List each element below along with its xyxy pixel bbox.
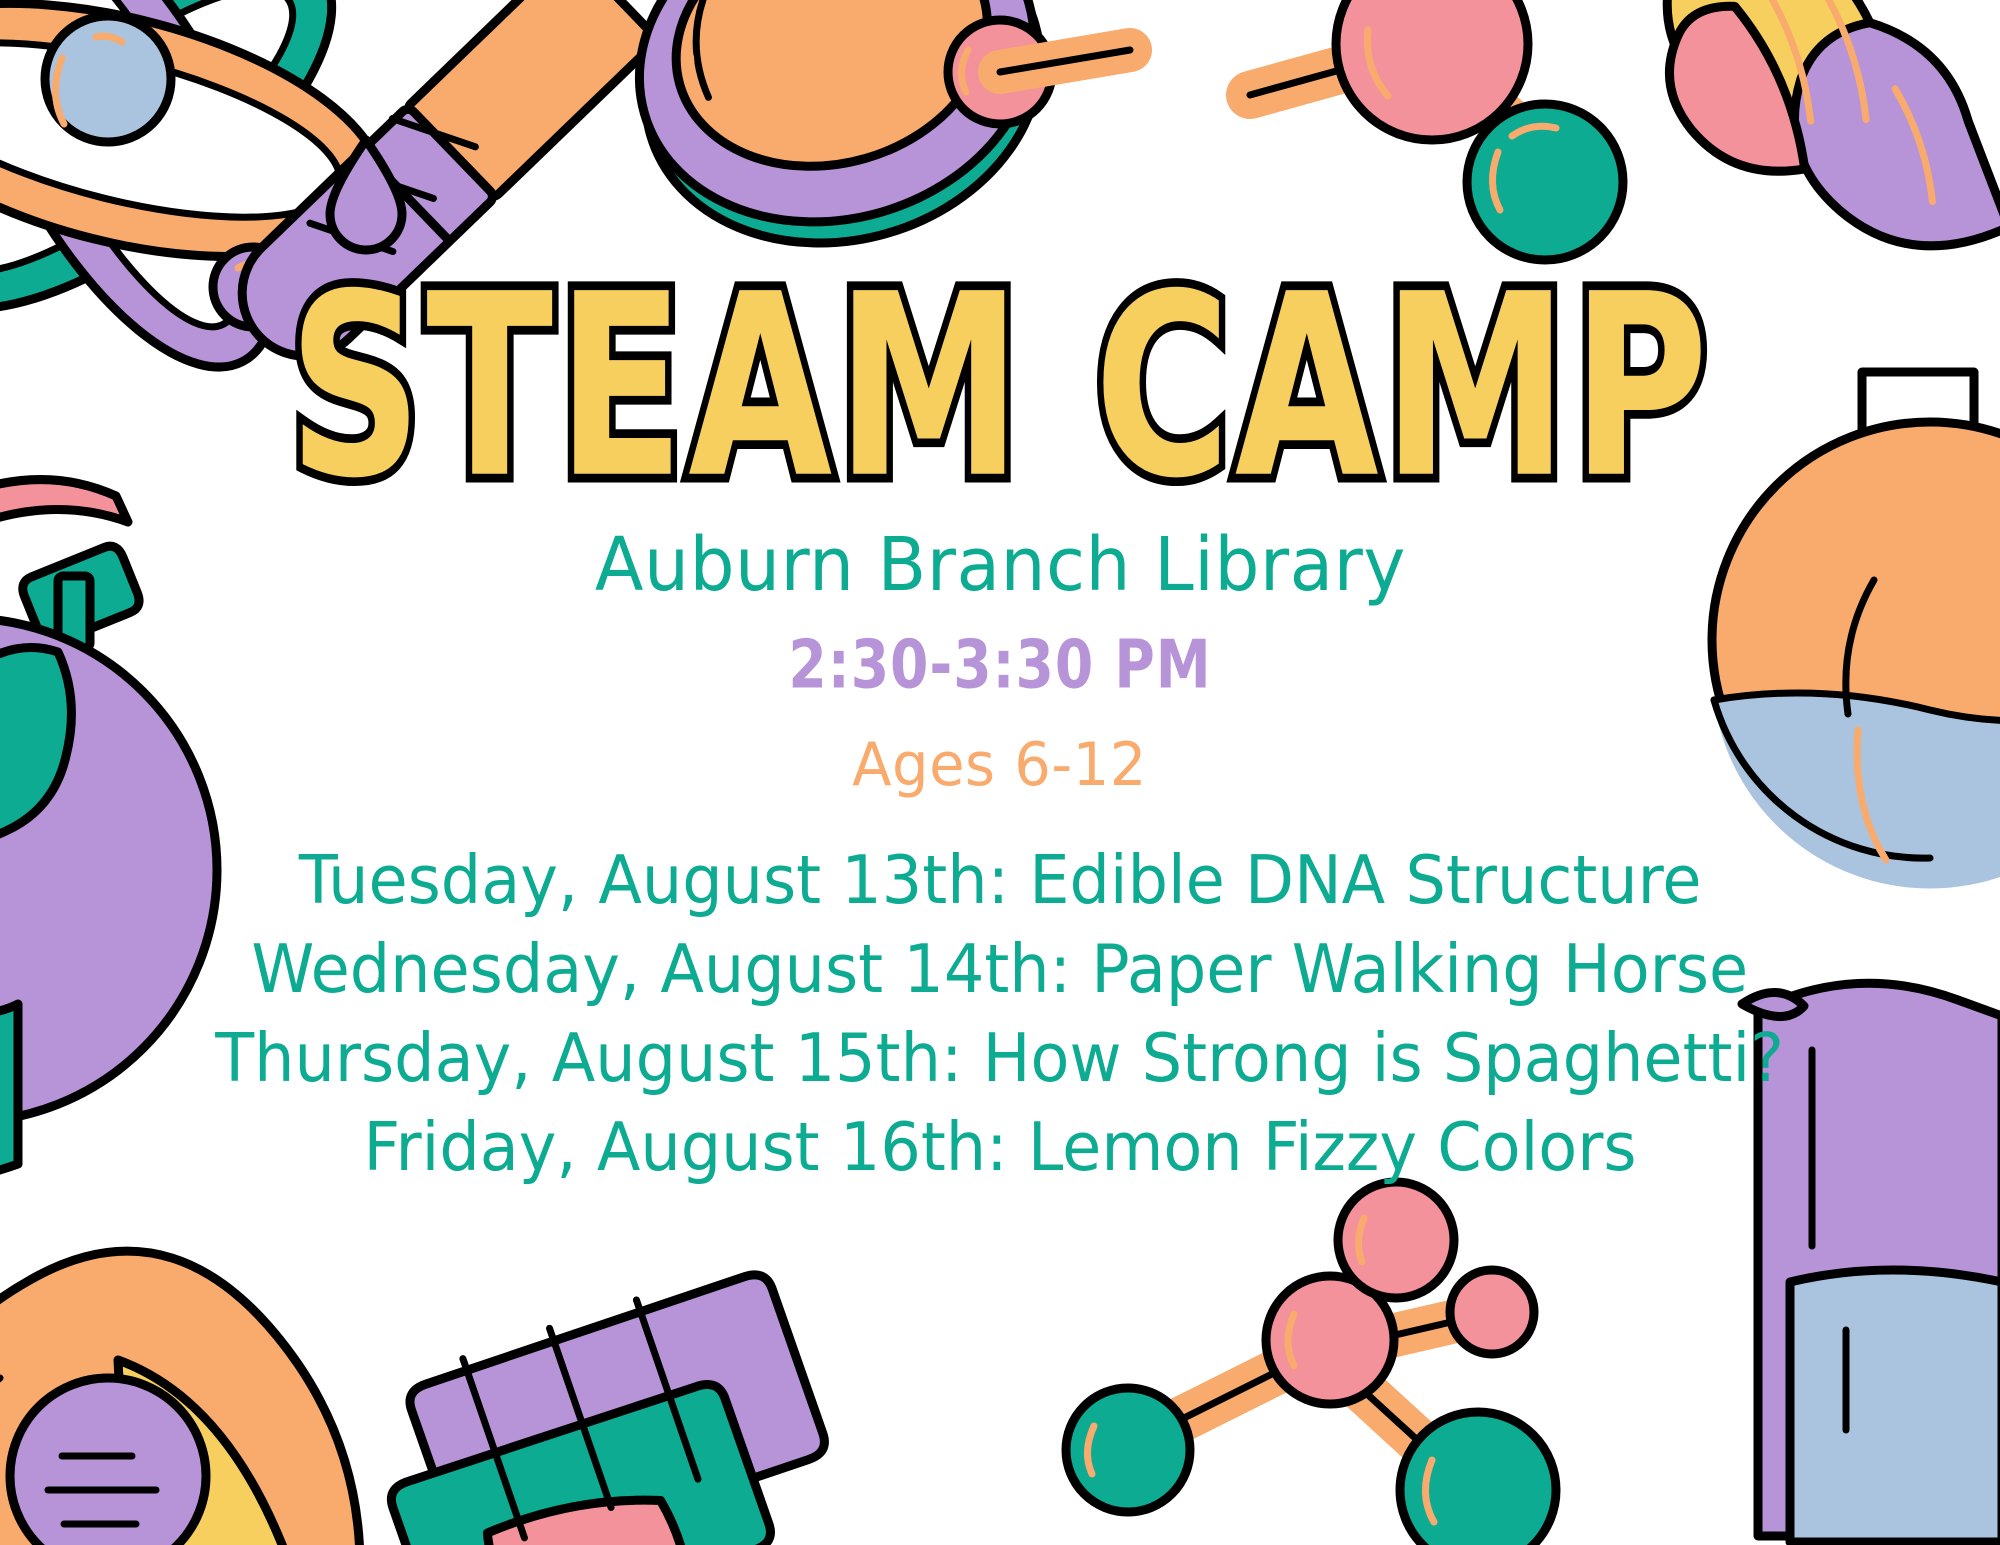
page-title: STEAM CAMP (288, 262, 1712, 514)
schedule-item-friday: Friday, August 16th: Lemon Fizzy Colors (363, 1103, 1636, 1192)
poster-content: STEAM CAMP Auburn Branch Library 2:30-3:… (0, 0, 2000, 1545)
schedule-item-tuesday: Tuesday, August 13th: Edible DNA Structu… (299, 836, 1702, 925)
schedule-item-thursday: Thursday, August 15th: How Strong is Spa… (216, 1014, 1785, 1103)
location-label: Auburn Branch Library (595, 522, 1406, 608)
steam-camp-poster: .ok { stroke:#000; stroke-width:9; strok… (0, 0, 2000, 1545)
schedule-list: Tuesday, August 13th: Edible DNA Structu… (0, 836, 2000, 1192)
time-label: 2:30-3:30 PM (788, 626, 1211, 704)
title-block: STEAM CAMP (0, 288, 2000, 488)
ages-label: Ages 6-12 (853, 730, 1148, 800)
schedule-item-wednesday: Wednesday, August 14th: Paper Walking Ho… (252, 925, 1749, 1014)
